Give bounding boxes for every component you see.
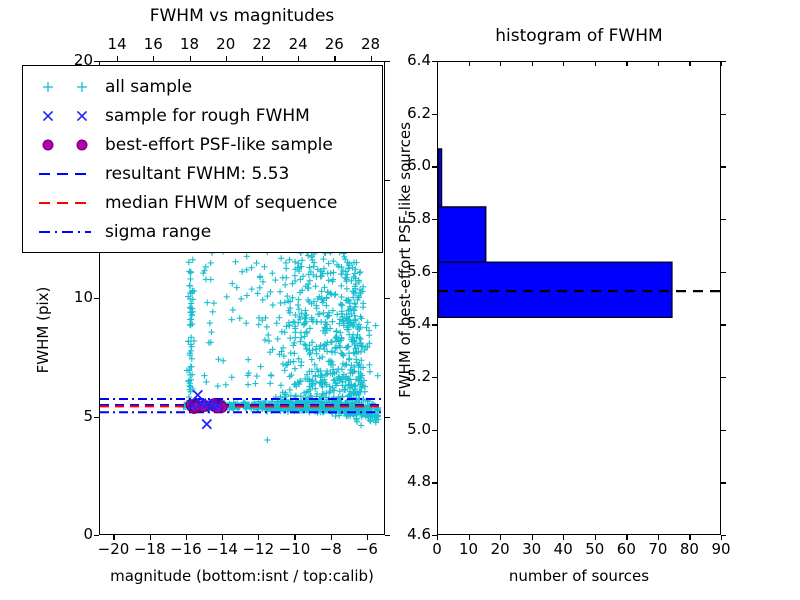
plus-marker: [286, 406, 292, 412]
plus-marker: [287, 404, 293, 410]
plus-marker: [217, 403, 223, 409]
plus-marker: [253, 404, 259, 410]
plus-marker: [300, 404, 306, 410]
plus-marker: [306, 396, 312, 402]
plus-marker: [285, 403, 291, 409]
plus-marker: [272, 401, 278, 407]
plus-marker: [225, 402, 231, 408]
plus-marker: [243, 404, 249, 410]
plus-marker: [339, 302, 345, 308]
plus-marker: [208, 329, 214, 335]
plus-marker: [245, 403, 251, 409]
scatter-ytick: [94, 298, 99, 299]
plus-marker: [292, 329, 298, 335]
circle-marker: [189, 401, 199, 411]
histogram-xtick: [469, 535, 470, 540]
plus-marker: [313, 346, 319, 352]
plus-marker: [336, 403, 342, 409]
plus-marker: [351, 383, 357, 389]
plus-marker: [338, 405, 344, 411]
plus-marker: [331, 387, 337, 393]
plus-marker: [325, 406, 331, 412]
plus-marker: [359, 405, 365, 411]
plus-marker: [338, 400, 344, 406]
plus-marker: [346, 265, 352, 271]
plus-marker: [309, 400, 315, 406]
plus-marker: [307, 350, 313, 356]
plus-marker: [229, 402, 235, 408]
plus-marker: [374, 406, 380, 412]
plus-marker: [352, 340, 358, 346]
plus-marker: [340, 361, 346, 367]
plus-marker: [351, 413, 357, 419]
plus-marker: [338, 400, 344, 406]
plus-marker: [288, 402, 294, 408]
plus-marker: [303, 400, 309, 406]
plus-marker: [188, 377, 194, 383]
plus-marker: [230, 403, 236, 409]
plus-marker: [333, 338, 339, 344]
plus-marker: [368, 413, 374, 419]
plus-marker: [341, 322, 347, 328]
cross-marker: [77, 111, 86, 120]
plus-marker: [311, 263, 317, 269]
legend-key: [31, 130, 99, 159]
plus-marker: [301, 401, 307, 407]
plus-marker: [353, 407, 359, 413]
plus-marker: [181, 402, 187, 408]
plus-marker: [199, 403, 205, 409]
plus-marker: [235, 404, 241, 410]
plus-marker: [348, 381, 354, 387]
scatter-top-xticklabel: 14: [100, 35, 134, 53]
scatter-yticklabel: 5: [53, 407, 93, 425]
plus-marker: [358, 315, 364, 321]
plus-marker: [342, 387, 348, 393]
plus-marker: [354, 297, 360, 303]
plus-marker: [313, 302, 319, 308]
plus-marker: [286, 400, 292, 406]
plus-marker: [220, 402, 226, 408]
plus-marker: [241, 403, 247, 409]
plus-marker: [320, 271, 326, 277]
plus-marker: [292, 402, 298, 408]
plus-marker: [291, 350, 297, 356]
plus-marker: [322, 326, 328, 332]
plus-marker: [212, 405, 218, 411]
plus-marker: [334, 369, 340, 375]
plus-marker: [337, 408, 343, 414]
plus-marker: [212, 405, 218, 411]
plus-marker: [349, 367, 355, 373]
plus-marker: [225, 402, 231, 408]
plus-marker: [238, 296, 244, 302]
plus-marker: [305, 404, 311, 410]
plus-marker: [253, 260, 259, 266]
plus-marker: [343, 275, 349, 281]
plus-marker: [359, 403, 365, 409]
plus-marker: [309, 404, 315, 410]
plus-marker: [231, 404, 237, 410]
plus-marker: [349, 399, 355, 405]
circle-marker-container: [73, 136, 91, 154]
plus-marker: [193, 402, 199, 408]
plus-marker: [224, 403, 230, 409]
plus-marker: [344, 286, 350, 292]
plus-marker: [237, 315, 243, 321]
plus-marker: [305, 285, 311, 291]
plus-marker: [326, 260, 332, 266]
histogram-top-xtick: [437, 61, 438, 66]
plus-marker: [343, 401, 349, 407]
plus-marker: [354, 411, 360, 417]
plus-marker: [261, 402, 267, 408]
histogram-xtick: [532, 535, 533, 540]
circle-marker: [212, 402, 222, 412]
plus-marker: [311, 399, 317, 405]
plus-marker: [361, 405, 367, 411]
plus-marker: [268, 372, 274, 378]
plus-marker: [354, 399, 360, 405]
plus-marker: [231, 404, 237, 410]
plus-marker: [271, 403, 277, 409]
plus-marker: [298, 310, 304, 316]
plus-marker: [210, 403, 216, 409]
plus-marker: [355, 408, 361, 414]
plus-marker: [206, 340, 212, 346]
legend-row-2[interactable]: best-effort PSF-like sample: [31, 130, 372, 159]
plus-marker: [229, 405, 235, 411]
plus-marker: [367, 417, 373, 423]
plus-marker: [303, 400, 309, 406]
plus-marker: [304, 406, 310, 412]
scatter-legend[interactable]: all samplesample for rough FWHMbest-effo…: [22, 65, 383, 253]
plus-marker: [299, 407, 305, 413]
histogram-yticklabel: 4.8: [381, 472, 431, 490]
histogram-axes[interactable]: [437, 61, 721, 535]
plus-marker: [348, 406, 354, 412]
plus-marker: [231, 403, 237, 409]
plus-marker: [349, 369, 355, 375]
circle-marker: [212, 400, 222, 410]
plus-marker: [185, 338, 191, 344]
plus-marker: [301, 314, 307, 320]
plus-marker: [298, 359, 304, 365]
legend-row-1[interactable]: sample for rough FWHM: [31, 101, 372, 130]
scatter-plot-title: FWHM vs magnitudes: [99, 6, 385, 26]
plus-marker: [309, 400, 315, 406]
plus-marker: [288, 402, 294, 408]
plus-marker: [344, 403, 350, 409]
plus-marker: [189, 372, 195, 378]
scatter-top-xtick: [226, 56, 227, 61]
plus-marker: [285, 298, 291, 304]
plus-marker: [356, 374, 362, 380]
plus-marker: [276, 315, 282, 321]
plus-marker: [187, 290, 193, 296]
plus-marker: [357, 269, 363, 275]
plus-marker: [308, 393, 314, 399]
plus-marker: [262, 315, 268, 321]
legend-key: [31, 101, 99, 130]
plus-marker: [366, 402, 372, 408]
plus-marker: [339, 374, 345, 380]
legend-row-0[interactable]: all sample: [31, 72, 372, 101]
legend-row-5[interactable]: sigma range: [31, 217, 372, 246]
plus-marker: [339, 378, 345, 384]
plus-marker: [188, 322, 194, 328]
plus-marker: [347, 300, 353, 306]
scatter-yticklabel: 0: [53, 525, 93, 543]
plus-marker: [343, 404, 349, 410]
plus-marker: [198, 404, 204, 410]
plus-marker: [287, 359, 293, 365]
plus-marker: [295, 302, 301, 308]
plus-marker: [340, 353, 346, 359]
circle-marker: [43, 140, 53, 150]
plus-marker: [344, 276, 350, 282]
plus-marker: [251, 404, 257, 410]
plus-marker: [286, 320, 292, 326]
plus-marker: [248, 265, 254, 271]
plus-marker: [339, 407, 345, 413]
plus-marker: [356, 397, 362, 403]
plus-marker: [354, 349, 360, 355]
plus-marker: [297, 407, 303, 413]
plus-marker: [284, 407, 290, 413]
plus-marker: [333, 404, 339, 410]
plus-marker: [189, 321, 195, 327]
plus-marker: [253, 403, 259, 409]
plus-marker: [352, 397, 358, 403]
plus-marker: [332, 335, 338, 341]
plus-marker: [278, 255, 284, 261]
plus-marker: [187, 276, 193, 282]
plus-marker: [300, 404, 306, 410]
plus-marker: [279, 403, 285, 409]
plus-marker: [347, 405, 353, 411]
plus-marker: [332, 398, 338, 404]
legend-label: sigma range: [99, 222, 211, 242]
plus-marker: [359, 409, 365, 415]
plus-marker: [213, 404, 219, 410]
plus-marker: [342, 401, 348, 407]
plus-marker: [363, 409, 369, 415]
histogram-xticklabel: 80: [672, 540, 706, 558]
plus-marker: [329, 278, 335, 284]
plus-marker: [285, 359, 291, 365]
plus-marker: [187, 352, 193, 358]
histogram-ytick-right: [721, 61, 726, 62]
plus-marker: [191, 338, 197, 344]
plus-marker: [310, 405, 316, 411]
plus-marker: [308, 301, 314, 307]
plus-marker: [351, 401, 357, 407]
plus-marker: [266, 405, 272, 411]
plus-marker: [330, 403, 336, 409]
plus-marker: [302, 376, 308, 382]
plus-marker: [203, 379, 209, 385]
scatter-reference-lines: [100, 399, 384, 412]
plus-marker: [231, 403, 237, 409]
plus-marker: [353, 412, 359, 418]
plus-marker: [238, 402, 244, 408]
plus-marker: [356, 277, 362, 283]
plus-marker: [304, 346, 310, 352]
plus-marker: [298, 378, 304, 384]
plus-marker: [297, 401, 303, 407]
plus-marker: [306, 376, 312, 382]
plus-marker: [331, 403, 337, 409]
scatter-xtick: [331, 535, 332, 540]
plus-marker: [360, 284, 366, 290]
plus-marker: [336, 403, 342, 409]
plus-marker: [183, 402, 189, 408]
plus-marker: [195, 403, 201, 409]
plus-marker: [244, 292, 250, 298]
plus-marker: [317, 380, 323, 386]
plus-marker: [287, 335, 293, 341]
plus-marker: [333, 410, 339, 416]
plus-marker: [357, 409, 363, 415]
plus-marker: [359, 404, 365, 410]
plus-marker: [207, 405, 213, 411]
plus-marker: [220, 358, 226, 364]
plus-marker: [362, 406, 368, 412]
histogram-xtick: [689, 535, 690, 540]
legend-row-3[interactable]: resultant FWHM: 5.53: [31, 159, 372, 188]
plus-marker: [289, 400, 295, 406]
legend-row-4[interactable]: median FHWM of sequence: [31, 188, 372, 217]
plus-marker: [181, 404, 187, 410]
plus-marker: [358, 365, 364, 371]
plus-marker: [306, 406, 312, 412]
scatter-ytick-right: [385, 417, 390, 418]
histogram-ytick-right: [721, 324, 726, 325]
plus-marker: [337, 408, 343, 414]
plus-marker: [348, 278, 354, 284]
plus-marker: [323, 302, 329, 308]
plus-marker: [338, 409, 344, 415]
psf-sample-points: [186, 399, 227, 414]
plus-marker: [325, 289, 331, 295]
plus-marker: [350, 288, 356, 294]
plus-marker: [187, 380, 193, 386]
plus-marker: [345, 412, 351, 418]
plus-marker: [333, 382, 339, 388]
plus-marker: [303, 389, 309, 395]
plus-marker: [303, 405, 309, 411]
plus-marker: [363, 410, 369, 416]
plus-marker: [327, 402, 333, 408]
plus-marker: [336, 343, 342, 349]
plus-marker: [213, 403, 219, 409]
plus-marker: [278, 397, 284, 403]
plus-marker: [292, 334, 298, 340]
plus-marker: [182, 402, 188, 408]
histogram-ytick-right: [721, 272, 726, 273]
plus-marker: [251, 400, 257, 406]
plus-marker: [287, 299, 293, 305]
plus-marker: [338, 405, 344, 411]
plus-marker: [373, 419, 379, 425]
scatter-xtick: [222, 535, 223, 540]
plus-marker: [310, 318, 316, 324]
plus-marker: [181, 404, 187, 410]
plus-marker: [190, 405, 196, 411]
plus-marker: [301, 341, 307, 347]
histogram-ytick-right: [721, 114, 726, 115]
circle-marker-container: [39, 136, 57, 154]
plus-marker: [307, 387, 313, 393]
plus-marker: [365, 404, 371, 410]
plus-marker: [255, 290, 261, 296]
plus-marker: [240, 402, 246, 408]
plus-marker: [287, 407, 293, 413]
plus-marker: [186, 394, 192, 400]
plus-marker: [357, 389, 363, 395]
legend-label: resultant FWHM: 5.53: [99, 164, 289, 184]
plus-marker: [330, 366, 336, 372]
plus-marker: [357, 270, 363, 276]
plus-marker: [309, 315, 315, 321]
plus-marker: [352, 390, 358, 396]
plus-marker: [351, 307, 357, 313]
plus-marker: [227, 403, 233, 409]
plus-marker: [323, 321, 329, 327]
plus-marker: [346, 357, 352, 363]
plus-marker: [355, 362, 361, 368]
plus-marker: [277, 289, 283, 295]
scatter-ytick: [94, 61, 99, 62]
plus-marker: [341, 407, 347, 413]
plus-marker: [313, 344, 319, 350]
plus-marker: [249, 402, 255, 408]
plus-marker: [293, 404, 299, 410]
plus-marker: [213, 404, 219, 410]
plus-marker: [235, 402, 241, 408]
plus-marker: [331, 402, 337, 408]
plus-marker: [313, 274, 319, 280]
plus-marker: [206, 401, 212, 407]
plus-marker: [283, 391, 289, 397]
plus-marker: [231, 400, 237, 406]
plus-marker: [318, 400, 324, 406]
plus-marker: [345, 406, 351, 412]
plus-marker: [332, 291, 338, 297]
plus-marker: [275, 402, 281, 408]
plus-marker: [312, 407, 318, 413]
plus-marker: [353, 356, 359, 362]
histogram-xticklabel: 70: [641, 540, 675, 558]
plus-marker: [369, 414, 375, 420]
plus-marker: [372, 417, 378, 423]
plus-marker: [337, 397, 343, 403]
plus-marker: [314, 405, 320, 411]
plus-marker: [311, 260, 317, 266]
plus-marker: [193, 404, 199, 410]
plus-marker: [329, 359, 335, 365]
plus-marker: [352, 266, 358, 272]
plus-marker: [324, 405, 330, 411]
plus-marker: [277, 408, 283, 414]
plus-marker: [330, 258, 336, 264]
plus-marker: [350, 411, 356, 417]
plus-marker: [290, 342, 296, 348]
plus-marker: [185, 338, 191, 344]
plus-marker: [351, 403, 357, 409]
plus-marker: [230, 403, 236, 409]
